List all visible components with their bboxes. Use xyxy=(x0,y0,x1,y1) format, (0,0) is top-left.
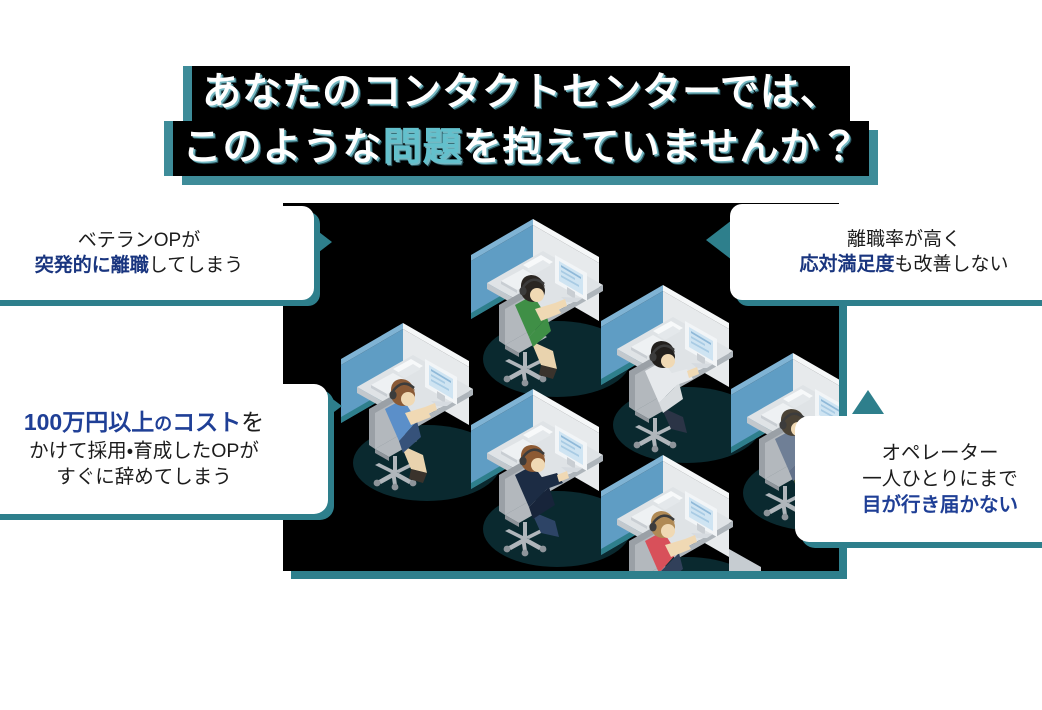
callout-veteran-rest: してしまう xyxy=(149,255,243,276)
headline-line-2-text: このような問題を抱えていませんか？ xyxy=(173,121,870,176)
workstation-6 xyxy=(601,455,761,571)
callout-veteran: ベテランOPが 突発的に離職してしまう xyxy=(0,206,314,300)
callout-veteran-line-1: ベテランOPが xyxy=(0,228,314,253)
callout-turnover-rest: も改善しない xyxy=(895,254,1009,275)
headline-line-1-text: あなたのコンタクトセンターでは、 xyxy=(192,66,850,121)
callout-cost-line-2: かけて採用・育成したOPが xyxy=(0,438,328,464)
poster-stage: あなたのコンタクトセンターでは、 このような問題を抱えていませんか？ xyxy=(0,0,1042,710)
headline-line-2-after: を抱えていませんか？ xyxy=(463,126,860,169)
callout-turnover-line-1: 離職率が高く xyxy=(730,227,1042,252)
callout-cost-line-1: 100万円以上のコストを xyxy=(0,407,328,438)
callout-cost-bold-a: 100万円以上 xyxy=(24,409,154,435)
callout-oversight-line-3: 目が行き届かない xyxy=(795,492,1042,518)
headline-line-2-before: このような xyxy=(183,126,383,169)
callout-oversight-bold: 目が行き届かない xyxy=(862,494,1018,516)
headline-line-2: このような問題を抱えていませんか？ xyxy=(0,121,1042,176)
callout-veteran-line-2: 突発的に離職してしまう xyxy=(0,253,314,278)
callout-turnover: 離職率が高く 応対満足度も改善しない xyxy=(730,204,1042,300)
callout-cost-small: の xyxy=(154,414,172,434)
callout-tail-oversight xyxy=(852,390,884,414)
callout-oversight-line-2: 一人ひとりにまで xyxy=(795,466,1042,492)
headline-highlight-mark: 問題 xyxy=(383,126,463,169)
callout-cost-line-3: すぐに辞めてしまう xyxy=(0,464,328,490)
callout-cost-bold-b: コスト xyxy=(172,409,241,435)
callout-tail-turnover xyxy=(706,220,732,260)
page-title: あなたのコンタクトセンターでは、 このような問題を抱えていませんか？ xyxy=(0,66,1042,176)
callout-oversight-line-1: オペレーター xyxy=(795,440,1042,466)
callout-veteran-bold: 突発的に離職 xyxy=(35,255,149,276)
callout-oversight: オペレーター 一人ひとりにまで 目が行き届かない xyxy=(795,416,1042,542)
callout-turnover-bold: 応対満足度 xyxy=(799,254,894,275)
callout-cost-rest: を xyxy=(241,409,264,435)
callout-cost: 100万円以上のコストを かけて採用・育成したOPが すぐに辞めてしまう xyxy=(0,384,328,514)
headline-line-1: あなたのコンタクトセンターでは、 xyxy=(0,66,1042,121)
callout-turnover-line-2: 応対満足度も改善しない xyxy=(730,252,1042,277)
